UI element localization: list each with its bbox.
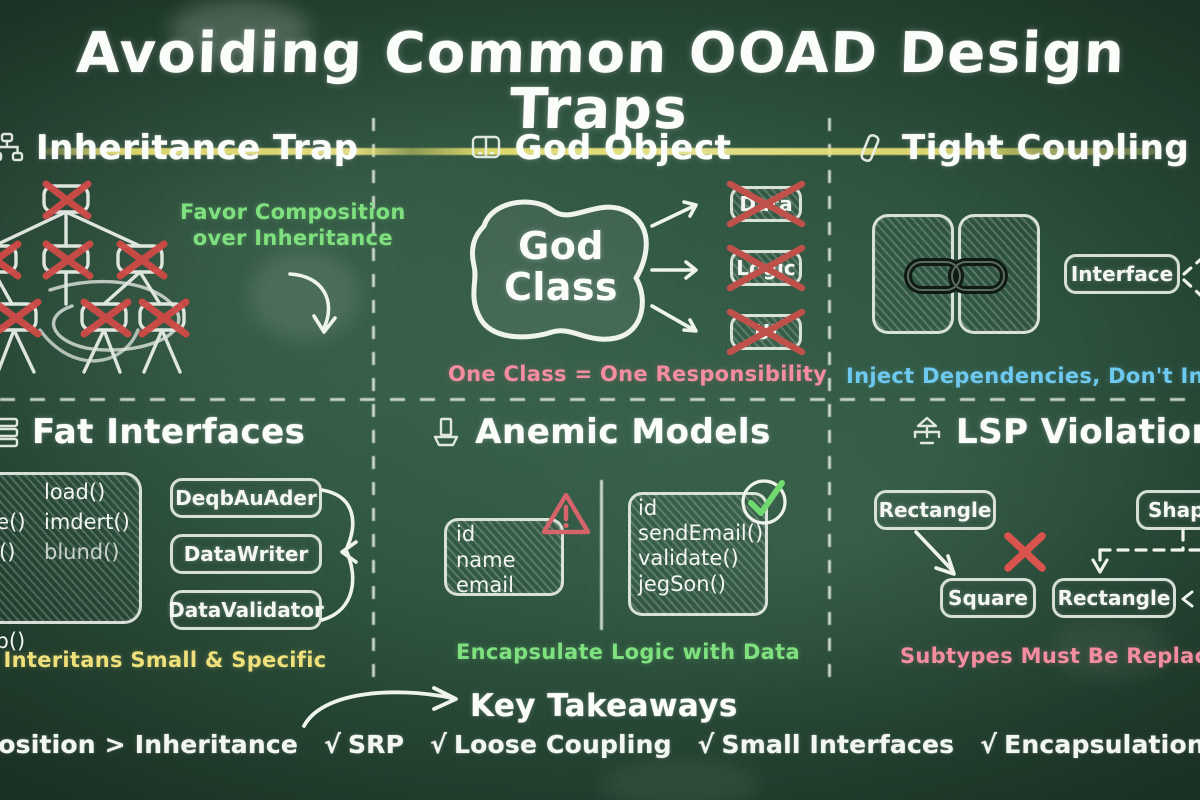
panel-caption: Subtypes Must Be Replaceab [900, 644, 1200, 668]
split-interface-box-writer: DataWriter [170, 534, 322, 574]
panel-god-object: God Object God Class Data Logic [400, 128, 800, 390]
field-name: email [456, 573, 516, 599]
target-label: Logic [736, 256, 796, 280]
panel-header: LSP Violation [910, 412, 1200, 452]
check-mark: √ [980, 730, 997, 759]
panel-fat-interfaces: Fat Interfaces ve() idate() port() ify()… [0, 412, 372, 680]
bidirectional-arrow-icon [1178, 584, 1200, 614]
panel-header: Anemic Models [400, 412, 800, 452]
takeaway-item: Composition > Inheritance [0, 730, 298, 759]
box-label: Rectangle [879, 498, 992, 522]
split-interface-box-reader: DeqbAuAder [170, 478, 322, 518]
split-interface-label: DeqbAuAder [175, 486, 317, 510]
lsp-dashed-hierarchy [1052, 528, 1200, 584]
panel-anemic-models: Anemic Models id name email id sendEmail… [400, 412, 800, 680]
warning-triangle-icon [540, 490, 592, 538]
takeaway-label: SRP [348, 730, 404, 759]
dependency-arrows [1180, 202, 1200, 352]
check-mark: √ [324, 730, 341, 759]
panel-header: Inheritance Trap [0, 128, 372, 168]
curved-arrow-icon [284, 268, 346, 344]
panel-caption: ep Interitans Small & Specific [0, 648, 327, 672]
brain-blob-icon [469, 131, 503, 165]
chalkboard: Avoiding Common OOAD Design Traps Inheri… [0, 0, 1200, 800]
fat-interface-methods-col1: ve() idate() port() ify() ry() anup() [0, 478, 26, 657]
panel-caption: One Class = One Responsibility [448, 362, 827, 386]
check-mark: √ [430, 730, 447, 759]
interface-box: Interface [1064, 254, 1180, 294]
god-target-box-logic: Logic [730, 250, 802, 286]
box-label: Shape [1148, 498, 1200, 522]
lsp-good-root-box: Shape [1136, 490, 1200, 530]
footer-heading: Key Takeaways [470, 688, 738, 724]
anemic-model-fields: id name email [456, 522, 516, 599]
target-label: UI [754, 320, 778, 344]
method-name: load() [44, 478, 130, 508]
check-circle-icon [736, 474, 792, 530]
panel-title: God Object [515, 128, 732, 168]
takeaway-label: Encapsulation [1004, 730, 1200, 759]
brace-arrow-icon [312, 480, 374, 632]
panel-title: LSP Violation [956, 412, 1200, 452]
panel-tight-coupling: Tight Coupling Interface [856, 128, 1200, 390]
field-name: id [456, 522, 516, 548]
method-name: imdert() [44, 508, 130, 538]
comparison-divider [600, 480, 603, 630]
member-name: jegSon() [638, 572, 763, 597]
split-interface-label: DataWriter [184, 542, 309, 566]
panel-inheritance-trap: Inheritance Trap [0, 128, 372, 390]
interface-label: Interface [1071, 262, 1173, 286]
key-takeaways-list: Composition > Inheritance √SRP √Loose Co… [0, 730, 1200, 759]
panel-header: God Object [400, 128, 800, 168]
takeaway-item: √Small Interfaces [698, 730, 955, 759]
footer-curved-arrow-icon [300, 684, 470, 730]
check-mark: √ [698, 730, 715, 759]
fat-interface-methods-col2: load() imdert() blund() [44, 478, 130, 567]
takeaway-item: √SRP [324, 730, 404, 759]
target-label: Data [739, 192, 792, 216]
sitemap-icon [910, 415, 944, 449]
divider-horizontal [0, 398, 1200, 401]
inheritance-note: Favor Composition over Inheritance [180, 200, 406, 251]
panel-title: Anemic Models [475, 412, 771, 452]
bar-link-icon [856, 131, 890, 165]
database-funnel-icon [429, 415, 463, 449]
panel-title: Tight Coupling [902, 128, 1189, 168]
lsp-bad-child-box: Square [940, 578, 1036, 618]
panel-header: Fat Interfaces [0, 412, 372, 452]
lsp-good-left-box: Rectangle [1052, 578, 1176, 618]
method-name: ify() [0, 567, 26, 597]
panel-title: Fat Interfaces [32, 412, 305, 452]
panel-caption: Encapsulate Logic with Data [456, 640, 800, 664]
takeaway-label: Loose Coupling [454, 730, 672, 759]
takeaway-item: √Encapsulation [980, 730, 1200, 759]
inheritance-arrow [912, 528, 978, 584]
note-line-1: Favor Composition [180, 200, 406, 226]
takeaway-item: √Loose Coupling [430, 730, 672, 759]
god-target-box-ui: UI [730, 314, 802, 350]
member-name: validate() [638, 546, 763, 571]
takeaway-label: Composition > Inheritance [0, 730, 298, 759]
field-name: name [456, 548, 516, 574]
god-object-arrows [648, 190, 728, 350]
split-interface-box-validator: DataValidator [170, 590, 322, 630]
god-class-line-2: Class [496, 267, 626, 308]
method-name: port() [0, 538, 26, 568]
box-label: Square [948, 586, 1028, 610]
method-name: blund() [44, 538, 130, 568]
method-name: ve() [0, 478, 26, 508]
split-interface-label: DataValidator [168, 598, 324, 622]
stacked-list-icon [0, 415, 20, 449]
tree-hierarchy-icon [0, 131, 24, 165]
method-name: ry() [0, 597, 26, 627]
chain-link-icon [902, 254, 1012, 298]
chalk-smudge [600, 760, 760, 800]
note-line-2: over Inheritance [180, 226, 406, 252]
god-class-label: God Class [496, 226, 626, 308]
panel-header: Tight Coupling [856, 128, 1200, 168]
panel-title: Inheritance Trap [36, 128, 359, 168]
lsp-bad-parent-box: Rectangle [874, 490, 996, 530]
takeaway-label: Small Interfaces [722, 730, 955, 759]
god-class-line-1: God [496, 226, 626, 267]
panel-caption: Inject Dependencies, Don't Instan [846, 364, 1200, 388]
red-x-mark [1002, 530, 1048, 574]
page-title: Avoiding Common OOAD Design Traps [0, 26, 1200, 138]
box-label: Rectangle [1058, 586, 1171, 610]
method-name: idate() [0, 508, 26, 538]
panel-lsp-violation: LSP Violation Rectangle Square Shape [856, 412, 1200, 680]
god-target-box-data: Data [730, 186, 802, 222]
